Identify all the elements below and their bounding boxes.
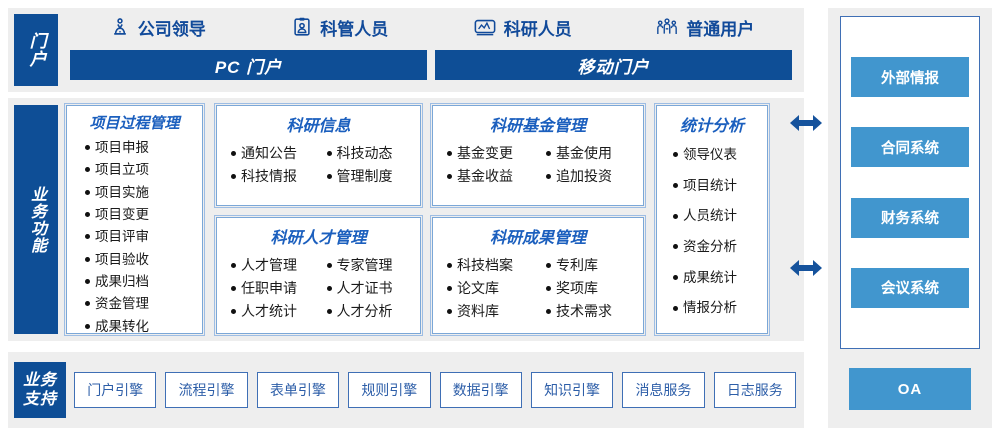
role-item-executive[interactable]: 公司领导 <box>66 15 249 40</box>
list-item-label: 项目实施 <box>95 182 149 203</box>
bullet-icon <box>231 174 236 179</box>
list-item-label: 基金使用 <box>556 142 612 164</box>
list-item[interactable]: 项目申报 <box>85 137 194 158</box>
external-system-meeting[interactable]: 会议系统 <box>851 268 969 308</box>
list-item-label: 人才分析 <box>337 300 393 322</box>
bullet-icon <box>85 234 90 239</box>
bullet-icon <box>546 151 551 156</box>
list-item[interactable]: 资金管理 <box>85 293 194 314</box>
list-item[interactable]: 成果统计 <box>673 265 759 291</box>
list-item[interactable]: 情报分析 <box>673 295 759 321</box>
support-chip-process-engine[interactable]: 流程引擎 <box>165 372 247 408</box>
role-label-researcher: 科研人员 <box>504 15 572 40</box>
business-function-label-text: 业务功能 <box>26 186 46 254</box>
bullet-icon <box>673 152 678 157</box>
bullet-icon <box>546 309 551 314</box>
double-arrow-bottom <box>788 255 824 281</box>
bullet-icon <box>673 306 678 311</box>
bullet-icon <box>673 214 678 219</box>
bullet-icon <box>85 257 90 262</box>
list-item-label: 科技动态 <box>337 142 393 164</box>
bullet-icon <box>327 263 332 268</box>
bullet-icon <box>85 145 90 150</box>
list-item[interactable]: 成果转化 <box>85 316 194 337</box>
bullet-icon <box>673 183 678 188</box>
list-item-label: 奖项库 <box>556 277 598 299</box>
bullet-icon <box>231 151 236 156</box>
list-item[interactable]: 专家管理 <box>327 254 413 276</box>
list-item-label: 项目评审 <box>95 226 149 247</box>
list-item[interactable]: 科技档案 <box>447 254 536 276</box>
card-title: 项目过程管理 <box>75 112 194 133</box>
bullet-icon <box>85 279 90 284</box>
double-arrow-icon <box>788 255 824 281</box>
bullet-icon <box>327 174 332 179</box>
list-item-label: 基金变更 <box>457 142 513 164</box>
bullet-icon <box>447 151 452 156</box>
bullet-icon <box>447 263 452 268</box>
bullet-icon <box>546 263 551 268</box>
list-item-label: 科技情报 <box>241 165 297 187</box>
card-statistics-analysis[interactable]: 统计分析 领导仪表 项目统计 人员统计 资金分析 成果统计 情报分析 <box>656 105 768 334</box>
list-item[interactable]: 基金变更 <box>447 142 536 164</box>
list-item-label: 领导仪表 <box>683 142 737 168</box>
support-chip-rule-engine[interactable]: 规则引擎 <box>348 372 430 408</box>
list-item[interactable]: 项目立项 <box>85 159 194 180</box>
card-research-info[interactable]: 科研信息 通知公告 科技动态 科技情报 管理制度 <box>216 105 421 206</box>
external-system-intel[interactable]: 外部情报 <box>851 57 969 97</box>
list-item-label: 任职申请 <box>241 277 297 299</box>
list-item[interactable]: 科技动态 <box>327 142 413 164</box>
card-title: 科研人才管理 <box>225 224 412 248</box>
list-item-label: 管理制度 <box>337 165 393 187</box>
id-badge-icon <box>291 16 313 38</box>
bullet-icon <box>327 309 332 314</box>
bullet-icon <box>546 286 551 291</box>
chart-monitor-icon <box>473 16 497 38</box>
card-item-list: 领导仪表 项目统计 人员统计 资金分析 成果统计 情报分析 <box>665 142 759 321</box>
portal-bar-mobile[interactable]: 移动门户 <box>435 50 792 80</box>
card-research-result[interactable]: 科研成果管理 科技档案 专利库 论文库 奖项库 资料库 技术需求 <box>432 217 644 334</box>
list-item-label: 成果统计 <box>683 265 737 291</box>
external-system-oa[interactable]: OA <box>849 368 971 410</box>
support-chip-portal-engine[interactable]: 门户引擎 <box>74 372 156 408</box>
bullet-icon <box>327 286 332 291</box>
card-item-list: 人才管理 专家管理 任职申请 人才证书 人才统计 人才分析 <box>225 254 412 322</box>
portal-label-text: 门户 <box>25 32 46 68</box>
list-item-label: 资料库 <box>457 300 499 322</box>
card-item-list: 科技档案 专利库 论文库 奖项库 资料库 技术需求 <box>441 254 635 322</box>
portal-bar-pc[interactable]: PC 门户 <box>70 50 427 80</box>
list-item-label: 项目申报 <box>95 137 149 158</box>
card-title: 科研成果管理 <box>441 224 635 248</box>
support-chip-group: 门户引擎 流程引擎 表单引擎 规则引擎 数据引擎 知识引擎 消息服务 日志服务 <box>74 368 796 412</box>
list-item[interactable]: 项目验收 <box>85 249 194 270</box>
bullet-icon <box>327 151 332 156</box>
list-item-label: 追加投资 <box>556 165 612 187</box>
support-chip-form-engine[interactable]: 表单引擎 <box>257 372 339 408</box>
list-item-label: 人才证书 <box>337 277 393 299</box>
support-chip-message-service[interactable]: 消息服务 <box>622 372 704 408</box>
role-item-researcher[interactable]: 科研人员 <box>431 15 614 40</box>
people-group-icon <box>655 16 679 38</box>
list-item[interactable]: 人才分析 <box>327 300 413 322</box>
double-arrow-icon <box>788 110 824 136</box>
bullet-icon <box>85 301 90 306</box>
list-item[interactable]: 项目评审 <box>85 226 194 247</box>
list-item-label: 项目变更 <box>95 204 149 225</box>
list-item[interactable]: 人才证书 <box>327 277 413 299</box>
bullet-icon <box>673 244 678 249</box>
list-item[interactable]: 项目变更 <box>85 204 194 225</box>
list-item[interactable]: 领导仪表 <box>673 142 759 168</box>
bullet-icon <box>231 263 236 268</box>
list-item-label: 资金分析 <box>683 234 737 260</box>
list-item-label: 科技档案 <box>457 254 513 276</box>
bullet-icon <box>85 324 90 329</box>
list-item[interactable]: 人员统计 <box>673 203 759 229</box>
card-item-list: 项目申报 项目立项 项目实施 项目变更 项目评审 项目验收 成果归档 资金管理 … <box>75 137 194 337</box>
list-item-label: 情报分析 <box>683 295 737 321</box>
list-item-label: 技术需求 <box>556 300 612 322</box>
list-item[interactable]: 技术需求 <box>546 300 635 322</box>
card-title: 科研信息 <box>225 112 412 136</box>
portal-bar-group: PC 门户 移动门户 <box>70 50 792 80</box>
list-item[interactable]: 人才管理 <box>231 254 317 276</box>
bullet-icon <box>673 275 678 280</box>
card-title: 科研基金管理 <box>441 112 635 136</box>
list-item-label: 基金收益 <box>457 165 513 187</box>
support-chip-knowledge-engine[interactable]: 知识引擎 <box>531 372 613 408</box>
card-research-fund[interactable]: 科研基金管理 基金变更 基金使用 基金收益 追加投资 <box>432 105 644 206</box>
double-arrow-top <box>788 110 824 136</box>
list-item[interactable]: 资金分析 <box>673 234 759 260</box>
list-item[interactable]: 奖项库 <box>546 277 635 299</box>
role-label-executive: 公司领导 <box>138 15 206 40</box>
list-item-label: 专家管理 <box>337 254 393 276</box>
card-research-talent[interactable]: 科研人才管理 人才管理 专家管理 任职申请 人才证书 人才统计 人才分析 <box>216 217 421 334</box>
card-title: 统计分析 <box>665 112 759 136</box>
list-item[interactable]: 追加投资 <box>546 165 635 187</box>
business-support-label-text: 业务支持 <box>21 371 59 409</box>
list-item-label: 人员统计 <box>683 203 737 229</box>
support-chip-log-service[interactable]: 日志服务 <box>714 372 796 408</box>
support-chip-data-engine[interactable]: 数据引擎 <box>440 372 522 408</box>
list-item[interactable]: 基金收益 <box>447 165 536 187</box>
role-label-research-admin: 科管人员 <box>320 15 388 40</box>
list-item[interactable]: 论文库 <box>447 277 536 299</box>
role-label-general-user: 普通用户 <box>686 15 754 40</box>
card-item-list: 基金变更 基金使用 基金收益 追加投资 <box>441 142 635 187</box>
card-project-process[interactable]: 项目过程管理 项目申报 项目立项 项目实施 项目变更 项目评审 项目验收 成果归… <box>66 105 203 334</box>
business-card-grid: 项目过程管理 项目申报 项目立项 项目实施 项目变更 项目评审 项目验收 成果归… <box>66 105 804 334</box>
card-item-list: 通知公告 科技动态 科技情报 管理制度 <box>225 142 412 187</box>
list-item[interactable]: 资料库 <box>447 300 536 322</box>
list-item-label: 专利库 <box>556 254 598 276</box>
bullet-icon <box>85 190 90 195</box>
bullet-icon <box>231 309 236 314</box>
list-item-label: 人才统计 <box>241 300 297 322</box>
bullet-icon <box>546 174 551 179</box>
list-item[interactable]: 人才统计 <box>231 300 317 322</box>
list-item-label: 资金管理 <box>95 293 149 314</box>
list-item[interactable]: 成果归档 <box>85 271 194 292</box>
role-item-general-user[interactable]: 普通用户 <box>614 15 797 40</box>
role-item-research-admin[interactable]: 科管人员 <box>249 15 432 40</box>
list-item[interactable]: 专利库 <box>546 254 635 276</box>
bullet-icon <box>231 286 236 291</box>
external-system-finance[interactable]: 财务系统 <box>851 198 969 238</box>
list-item-label: 成果归档 <box>95 271 149 292</box>
list-item-label: 成果转化 <box>95 316 149 337</box>
list-item[interactable]: 项目实施 <box>85 182 194 203</box>
list-item-label: 项目验收 <box>95 249 149 270</box>
bullet-icon <box>85 167 90 172</box>
list-item[interactable]: 项目统计 <box>673 173 759 199</box>
list-item-label: 通知公告 <box>241 142 297 164</box>
bullet-icon <box>447 286 452 291</box>
list-item-label: 人才管理 <box>241 254 297 276</box>
bullet-icon <box>85 212 90 217</box>
role-list: 公司领导 科管人员 科研人员 <box>66 8 796 46</box>
business-function-section-label: 业务功能 <box>14 105 58 334</box>
executive-icon <box>109 16 131 38</box>
list-item[interactable]: 基金使用 <box>546 142 635 164</box>
bullet-icon <box>447 309 452 314</box>
architecture-diagram: 门户 公司领导 <box>0 0 1000 436</box>
bullet-icon <box>447 174 452 179</box>
external-systems-group: 外部情报 合同系统 财务系统 会议系统 <box>840 16 980 349</box>
business-support-section-label: 业务支持 <box>14 362 66 418</box>
list-item[interactable]: 通知公告 <box>231 142 317 164</box>
list-item-label: 论文库 <box>457 277 499 299</box>
list-item-label: 项目统计 <box>683 173 737 199</box>
list-item[interactable]: 管理制度 <box>327 165 413 187</box>
list-item[interactable]: 任职申请 <box>231 277 317 299</box>
list-item[interactable]: 科技情报 <box>231 165 317 187</box>
external-system-contract[interactable]: 合同系统 <box>851 127 969 167</box>
list-item-label: 项目立项 <box>95 159 149 180</box>
portal-section-label: 门户 <box>14 14 58 86</box>
